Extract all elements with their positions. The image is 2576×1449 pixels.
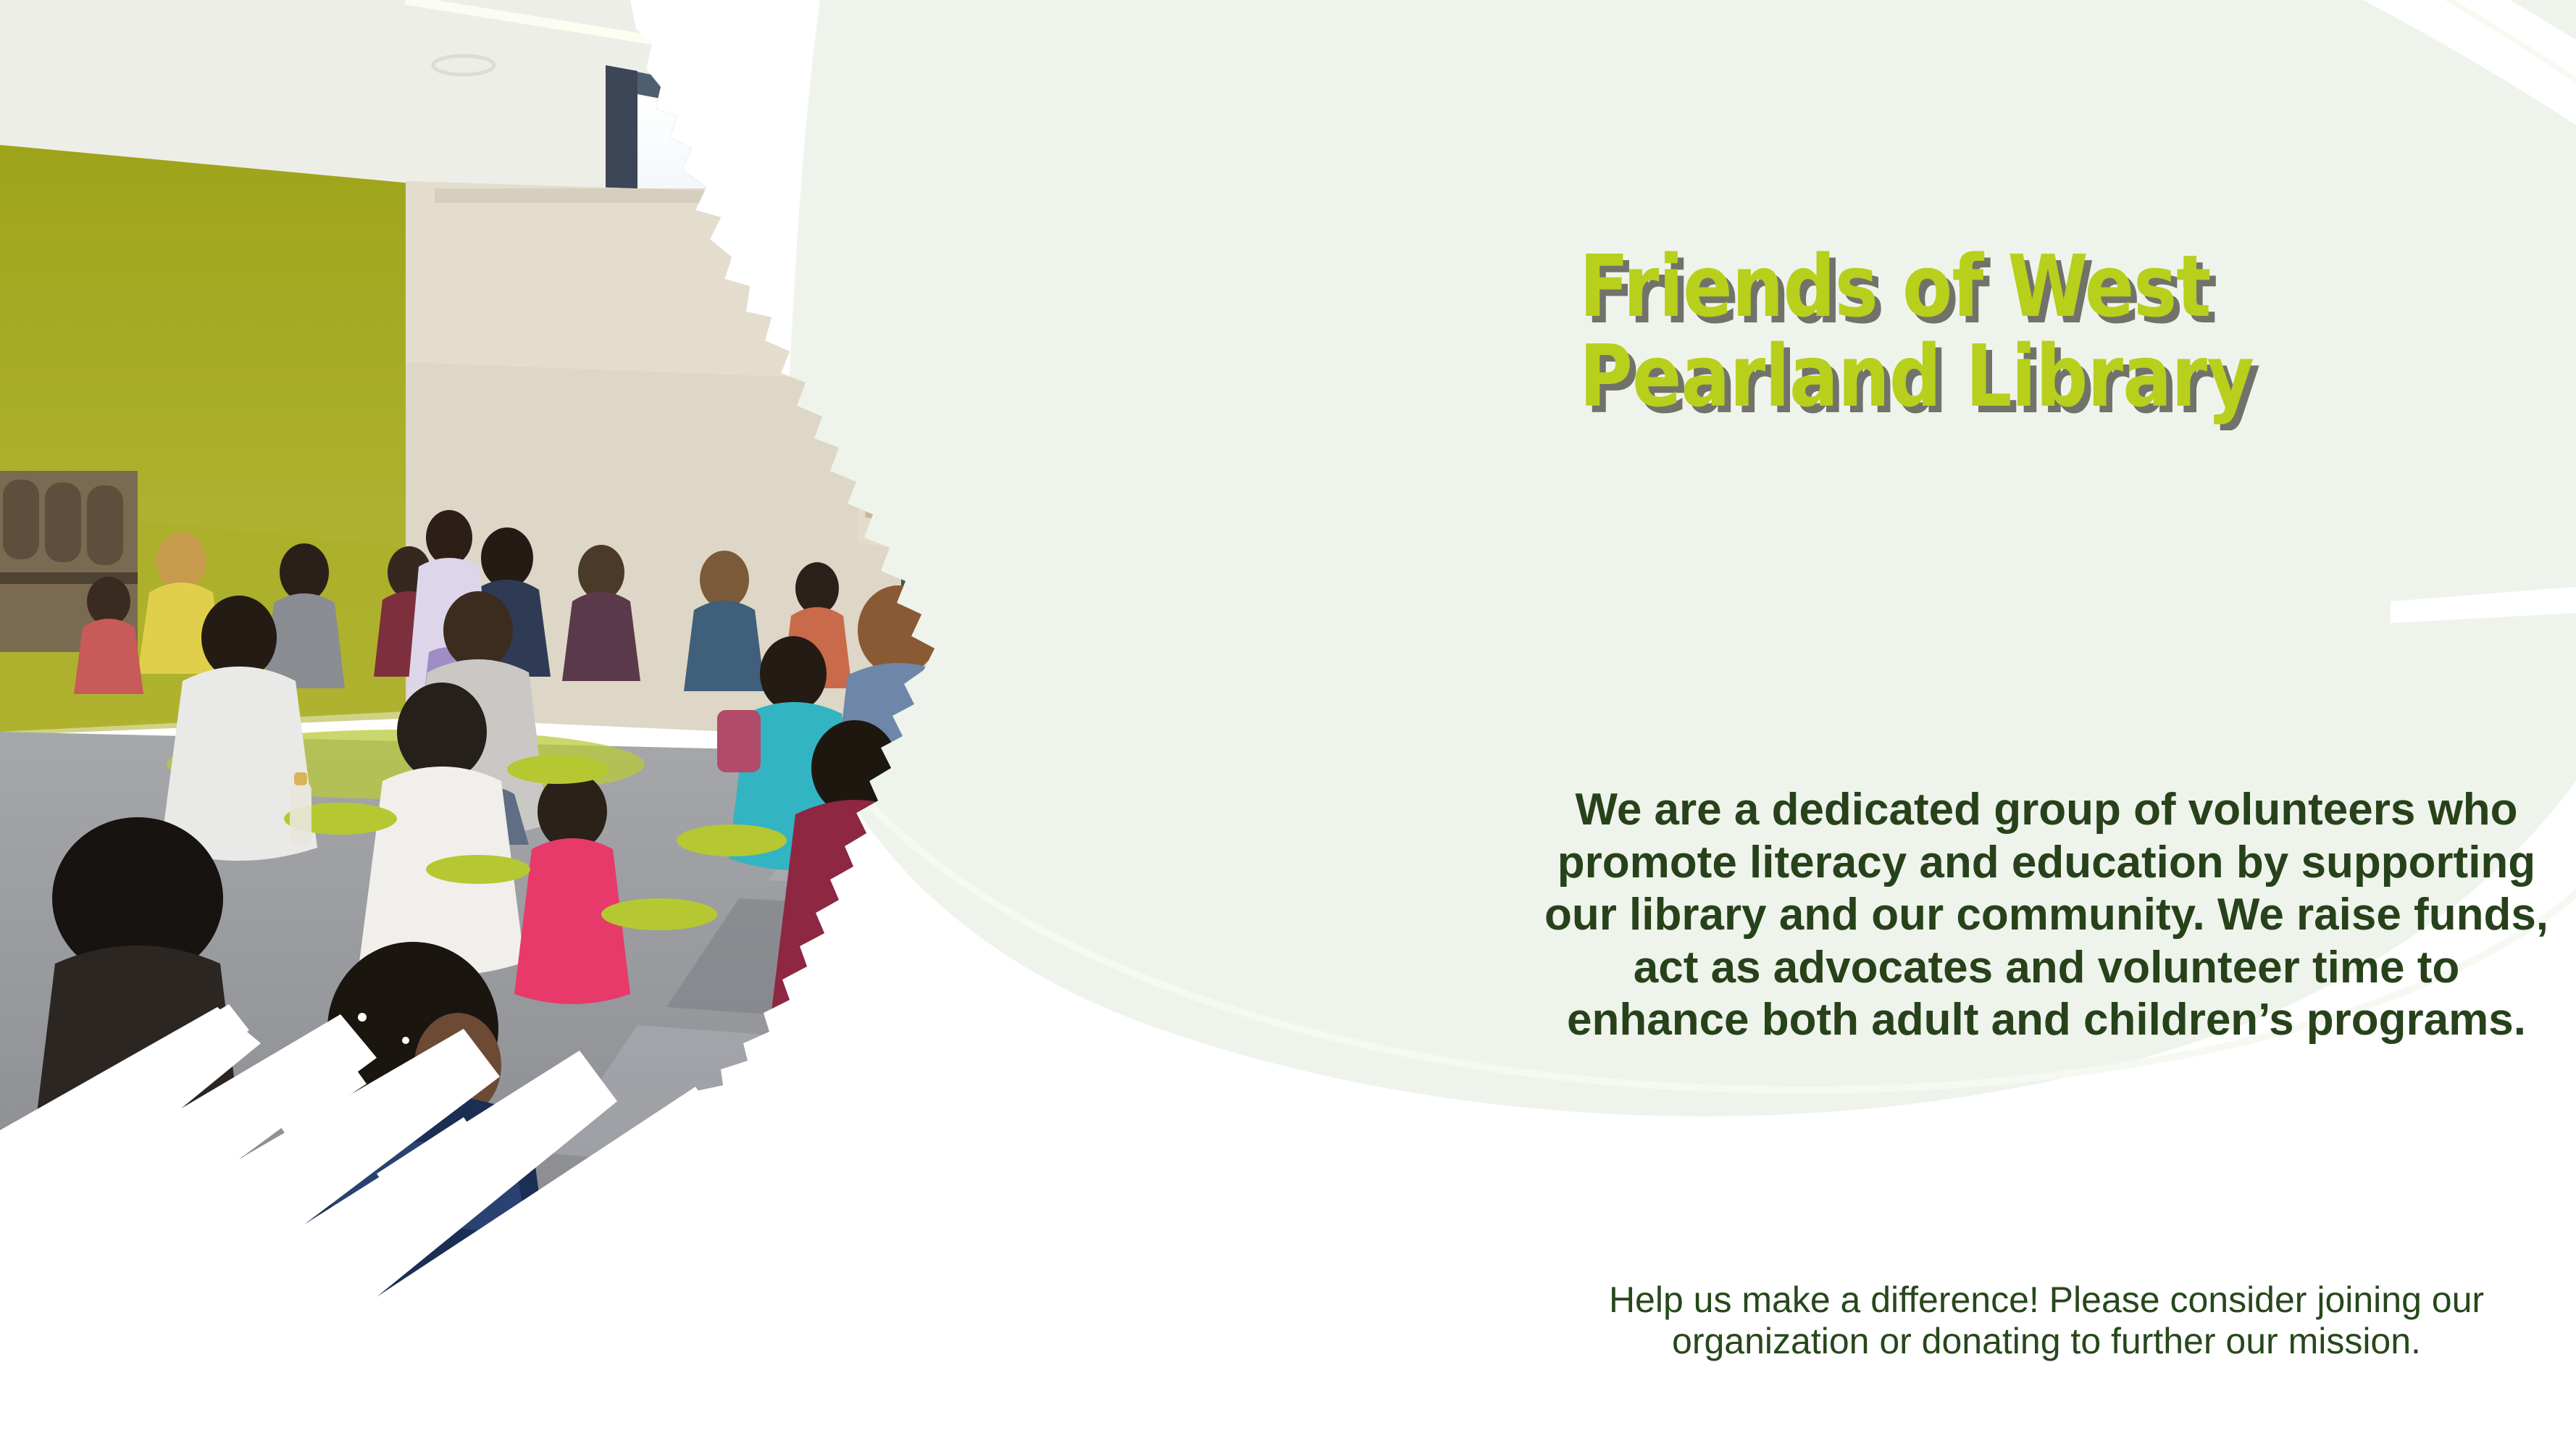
- door-frame: [1130, 156, 1188, 696]
- window-mullions: [768, 117, 1029, 325]
- picture-book: [858, 478, 919, 552]
- blazer: [907, 492, 1005, 664]
- text-column: Friends of West Pearland Library We are …: [1514, 0, 2576, 1449]
- laptop: [1066, 507, 1224, 582]
- display-screen: Time For a Book!: [1029, 303, 1329, 491]
- screen-caption-line1: Time For a: [1100, 364, 1254, 401]
- storytime-photo: Time For a Book!: [0, 0, 1543, 1449]
- ceiling-speaker: [726, 80, 752, 91]
- screen-cloud-shape: [1050, 325, 1304, 467]
- page-title: Friends of West Pearland Library: [1579, 242, 2309, 422]
- cable: [1203, 584, 1221, 790]
- skirt: [929, 652, 985, 786]
- table-items: [1249, 564, 1301, 584]
- call-to-action-text: Help us make a difference! Please consid…: [1543, 1279, 2550, 1361]
- presenter-table: [1018, 580, 1322, 771]
- screen-caption-line2: Book!: [1135, 404, 1218, 440]
- brush-stroke-mask: [0, 1004, 903, 1449]
- slide-canvas: Time For a Book!: [0, 0, 2576, 1449]
- wall-outlet: [1349, 504, 1371, 534]
- mission-paragraph: We are a dedicated group of volunteers w…: [1543, 784, 2550, 1047]
